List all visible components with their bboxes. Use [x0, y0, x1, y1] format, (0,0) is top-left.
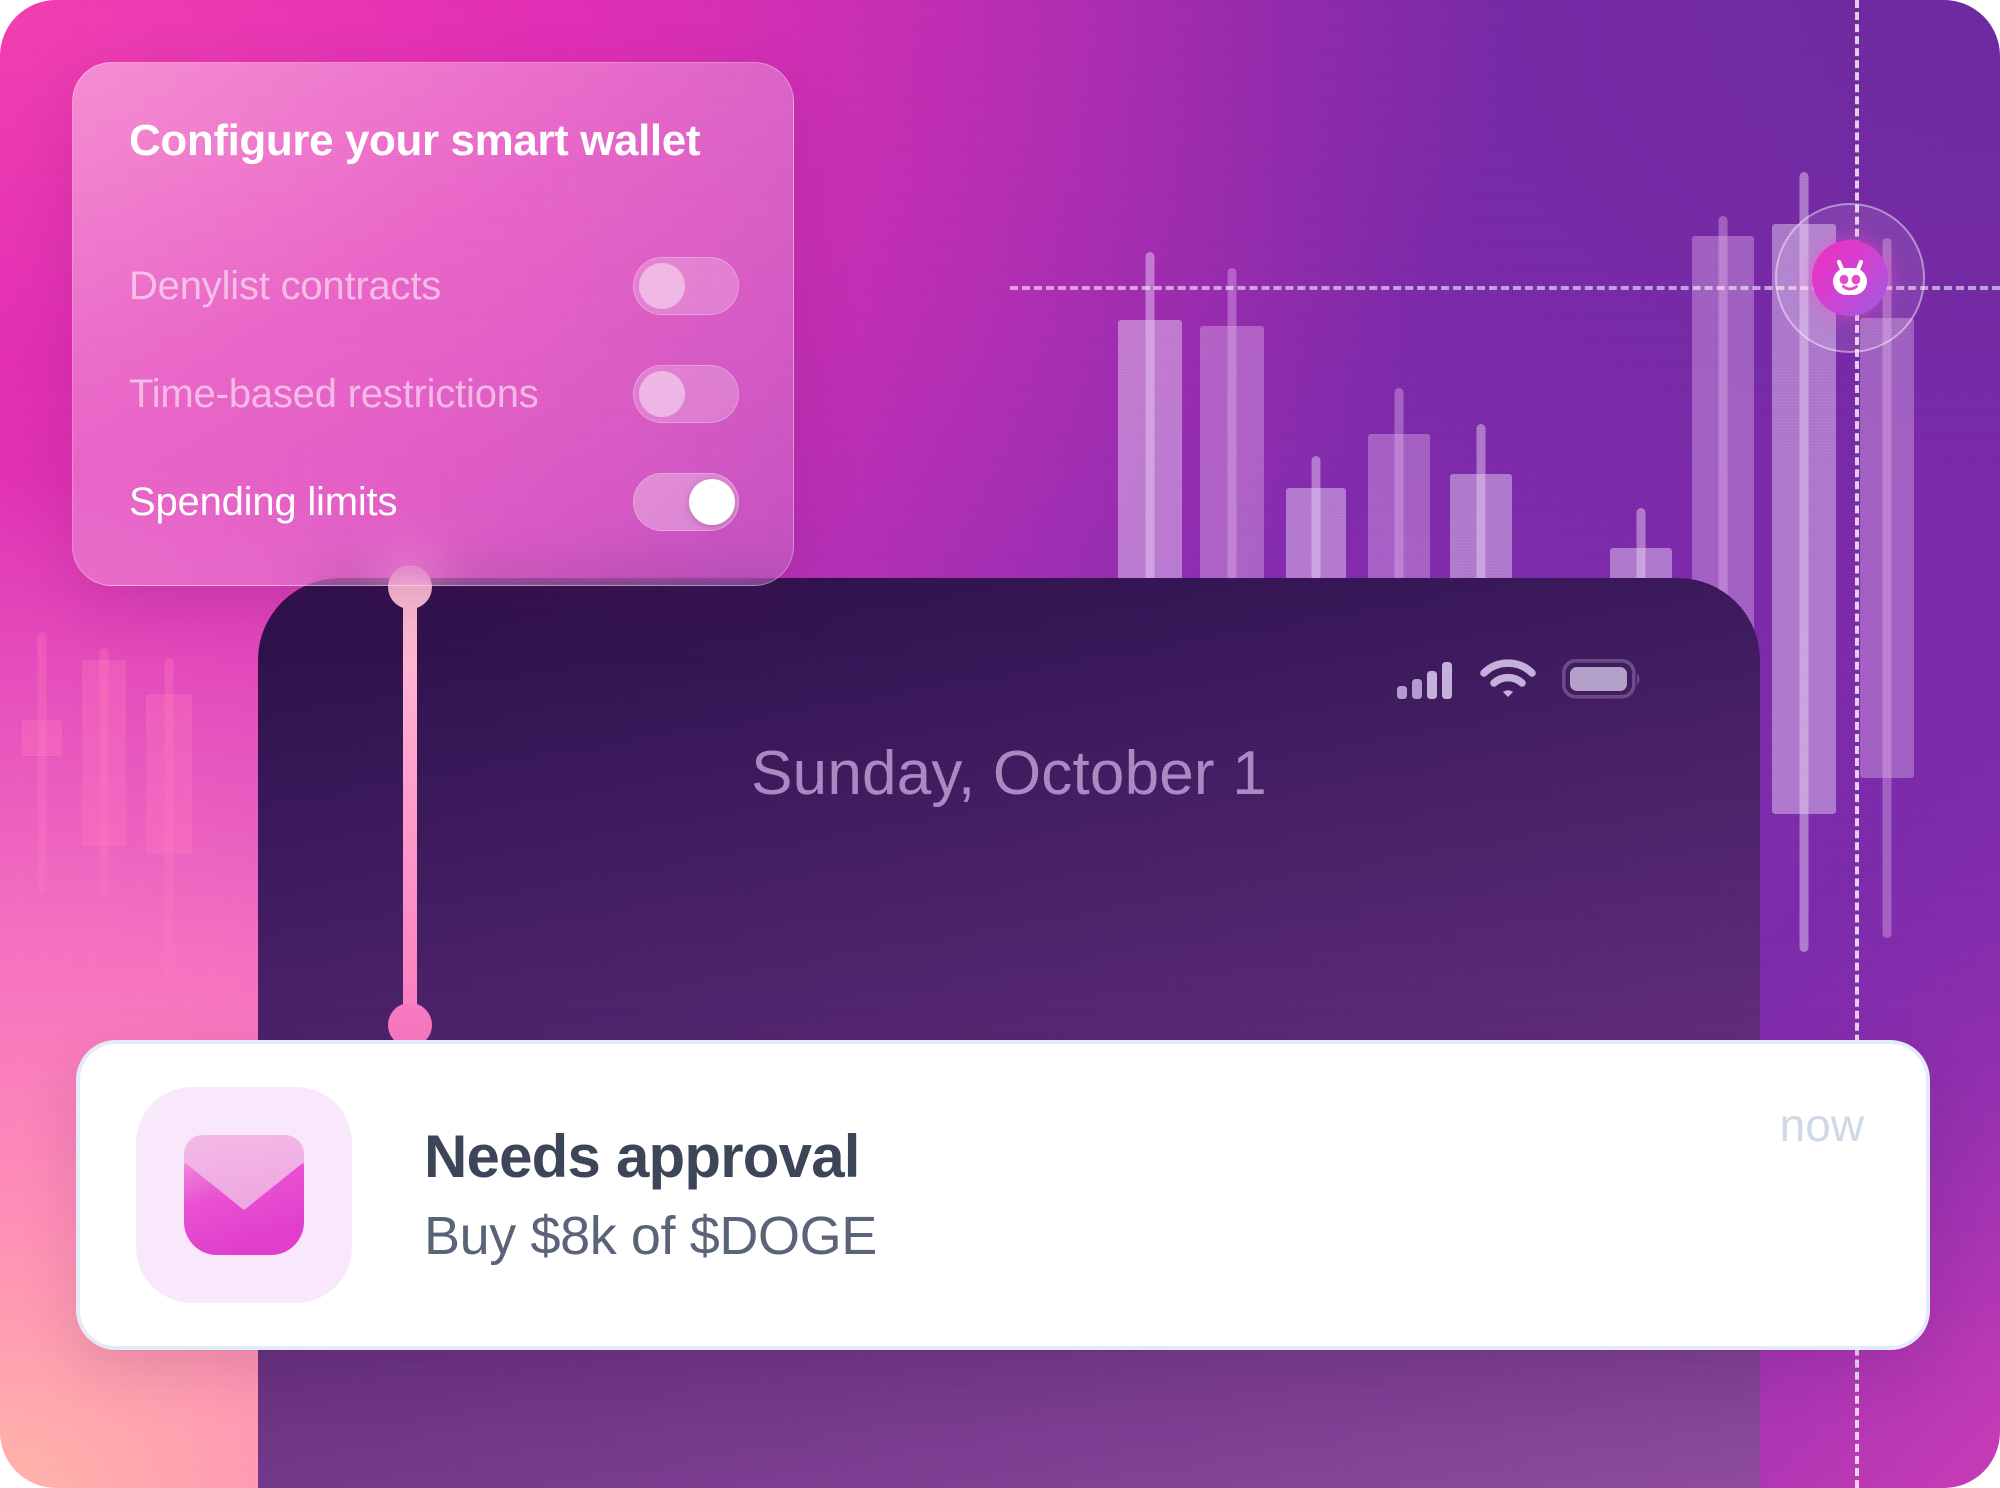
notification-card[interactable]: Needs approval Buy $8k of $DOGE now — [76, 1040, 1930, 1350]
setting-row-denylist-contracts[interactable]: Denylist contracts — [129, 257, 739, 315]
connector-line — [403, 585, 417, 1025]
setting-label: Time-based restrictions — [129, 372, 539, 417]
status-bar — [1396, 658, 1642, 705]
smart-wallet-settings-card: Configure your smart wallet Denylist con… — [72, 62, 794, 586]
phone-mockup: Sunday, October 1 — [258, 578, 1760, 1488]
toggle-knob — [639, 371, 685, 417]
mail-envelope-icon — [136, 1087, 352, 1303]
notification-text: Needs approval Buy $8k of $DOGE — [424, 1123, 1780, 1267]
battery-icon — [1562, 659, 1642, 704]
candlestick — [146, 658, 192, 988]
cellular-signal-icon — [1396, 658, 1454, 705]
notification-timestamp: now — [1780, 1098, 1864, 1152]
toggle-switch-icon[interactable] — [633, 257, 739, 315]
robot-face-icon[interactable] — [1812, 240, 1888, 316]
candlestick — [22, 632, 62, 894]
toggle-knob — [639, 263, 685, 309]
toggle-knob — [689, 479, 735, 525]
toggle-switch-icon[interactable] — [633, 365, 739, 423]
notification-body: Buy $8k of $DOGE — [424, 1206, 1780, 1266]
lock-screen-date: Sunday, October 1 — [258, 738, 1760, 809]
setting-label: Spending limits — [129, 480, 397, 525]
page-title: Configure your smart wallet — [129, 119, 741, 163]
setting-row-spending-limits[interactable]: Spending limits — [129, 473, 739, 531]
notification-title: Needs approval — [424, 1123, 1780, 1190]
setting-row-time-based-restrictions[interactable]: Time-based restrictions — [129, 365, 739, 423]
promo-composition: Sunday, October 1 Configure your smart w… — [0, 0, 2000, 1488]
setting-label: Denylist contracts — [129, 264, 441, 309]
toggle-switch-icon[interactable] — [633, 473, 739, 531]
wifi-icon — [1480, 658, 1536, 705]
candlestick — [82, 648, 126, 898]
